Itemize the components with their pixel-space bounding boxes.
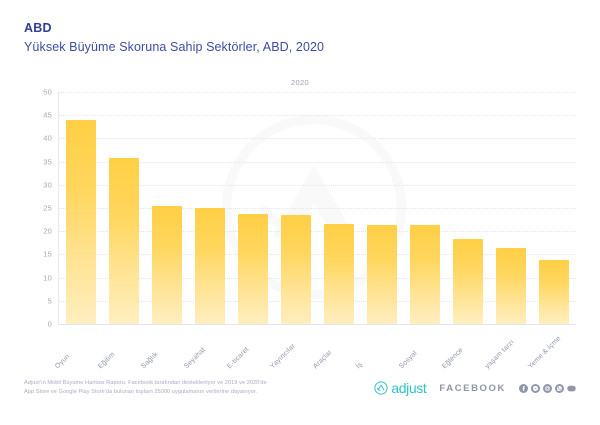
- y-tick-label: 50: [43, 88, 52, 97]
- x-tick-label: Yeme & İçme: [528, 335, 563, 370]
- bar[interactable]: [453, 239, 483, 324]
- y-tick-label: 35: [43, 157, 52, 166]
- bar[interactable]: [410, 225, 440, 324]
- bar-slot: [231, 92, 274, 324]
- bar[interactable]: [496, 248, 526, 324]
- facebook-icon[interactable]: [519, 384, 528, 393]
- bar-slot: [533, 92, 576, 324]
- y-tick-label: 40: [43, 134, 52, 143]
- facebook-wordmark: FACEBOOK: [439, 383, 506, 394]
- chart-legend: 2020: [24, 78, 576, 90]
- x-axis-labels: OyunEğitimSağlıkSeyahatE-ticaretYayıncıl…: [59, 326, 576, 370]
- whatsapp-icon[interactable]: [555, 384, 564, 393]
- adjust-wordmark: adjust: [391, 381, 426, 395]
- bar-slot: [188, 92, 231, 324]
- y-tick-label: 15: [43, 250, 52, 259]
- instagram-icon[interactable]: [543, 384, 552, 393]
- adjust-mark-icon: [374, 381, 388, 395]
- chart-subtitle: Yüksek Büyüme Skoruna Sahip Sektörler, A…: [24, 38, 324, 57]
- x-label-slot: Oyun: [59, 326, 102, 370]
- adjust-logo: adjust: [374, 381, 426, 395]
- bar-slot: [361, 92, 404, 324]
- footnote-line-2: App Store ve Google Play Store'da buluna…: [24, 388, 354, 397]
- x-label-slot: Seyahat: [188, 326, 231, 370]
- workplace-icon[interactable]: [567, 384, 576, 393]
- bar-slot: [145, 92, 188, 324]
- bar-group: [59, 92, 576, 324]
- x-label-slot: Eğlence: [447, 326, 490, 370]
- x-label-slot: Yeme & İçme: [533, 326, 576, 370]
- bar-slot: [102, 92, 145, 324]
- bar-slot: [274, 92, 317, 324]
- bar[interactable]: [152, 206, 182, 324]
- x-label-slot: İş: [361, 326, 404, 370]
- footnote-line-1: Adjust'ın Mobil Büyüme Haritası Raporu, …: [24, 379, 354, 388]
- x-axis-line: [58, 324, 576, 325]
- bar[interactable]: [367, 225, 397, 324]
- bar-slot: [490, 92, 533, 324]
- x-label-slot: Yayıncılar: [274, 326, 317, 370]
- bar[interactable]: [539, 260, 569, 324]
- y-tick-label: 45: [43, 111, 52, 120]
- y-tick-label: 5: [48, 296, 52, 305]
- y-axis: 05101520253035404550: [24, 92, 58, 324]
- y-tick-label: 25: [43, 204, 52, 213]
- bar[interactable]: [195, 208, 225, 324]
- x-tick-label: yaşam tarzı: [484, 339, 516, 371]
- x-label-slot: yaşam tarzı: [490, 326, 533, 370]
- bar[interactable]: [109, 158, 139, 324]
- bar-slot: [59, 92, 102, 324]
- bar-slot: [447, 92, 490, 324]
- chart-container: 2020 05101520253035404550 OyunEğitimSağl…: [24, 78, 576, 346]
- chart-footer: Adjust'ın Mobil Büyüme Haritası Raporu, …: [24, 379, 576, 407]
- bar[interactable]: [324, 224, 354, 324]
- bar-slot: [404, 92, 447, 324]
- bar[interactable]: [66, 120, 96, 324]
- y-tick-label: 10: [43, 273, 52, 282]
- chart-header: ABD Yüksek Büyüme Skoruna Sahip Sektörle…: [24, 20, 324, 57]
- x-label-slot: Sağlık: [145, 326, 188, 370]
- footnote: Adjust'ın Mobil Büyüme Haritası Raporu, …: [24, 379, 354, 396]
- y-tick-label: 0: [48, 320, 52, 329]
- x-label-slot: E-ticaret: [231, 326, 274, 370]
- brand-bar: adjust FACEBOOK: [374, 381, 576, 395]
- bar[interactable]: [238, 214, 268, 324]
- x-label-slot: Sosyal: [404, 326, 447, 370]
- y-tick-label: 30: [43, 180, 52, 189]
- plot-area: 05101520253035404550 OyunEğitimSağlıkSey…: [24, 92, 576, 340]
- bar-slot: [317, 92, 360, 324]
- social-icons: [519, 384, 576, 393]
- x-label-slot: Araçlar: [317, 326, 360, 370]
- x-tick-label: Oyun: [54, 353, 71, 370]
- page-title: ABD: [24, 20, 324, 37]
- messenger-icon[interactable]: [531, 384, 540, 393]
- x-label-slot: Eğitim: [102, 326, 145, 370]
- y-tick-label: 20: [43, 227, 52, 236]
- bar[interactable]: [281, 215, 311, 324]
